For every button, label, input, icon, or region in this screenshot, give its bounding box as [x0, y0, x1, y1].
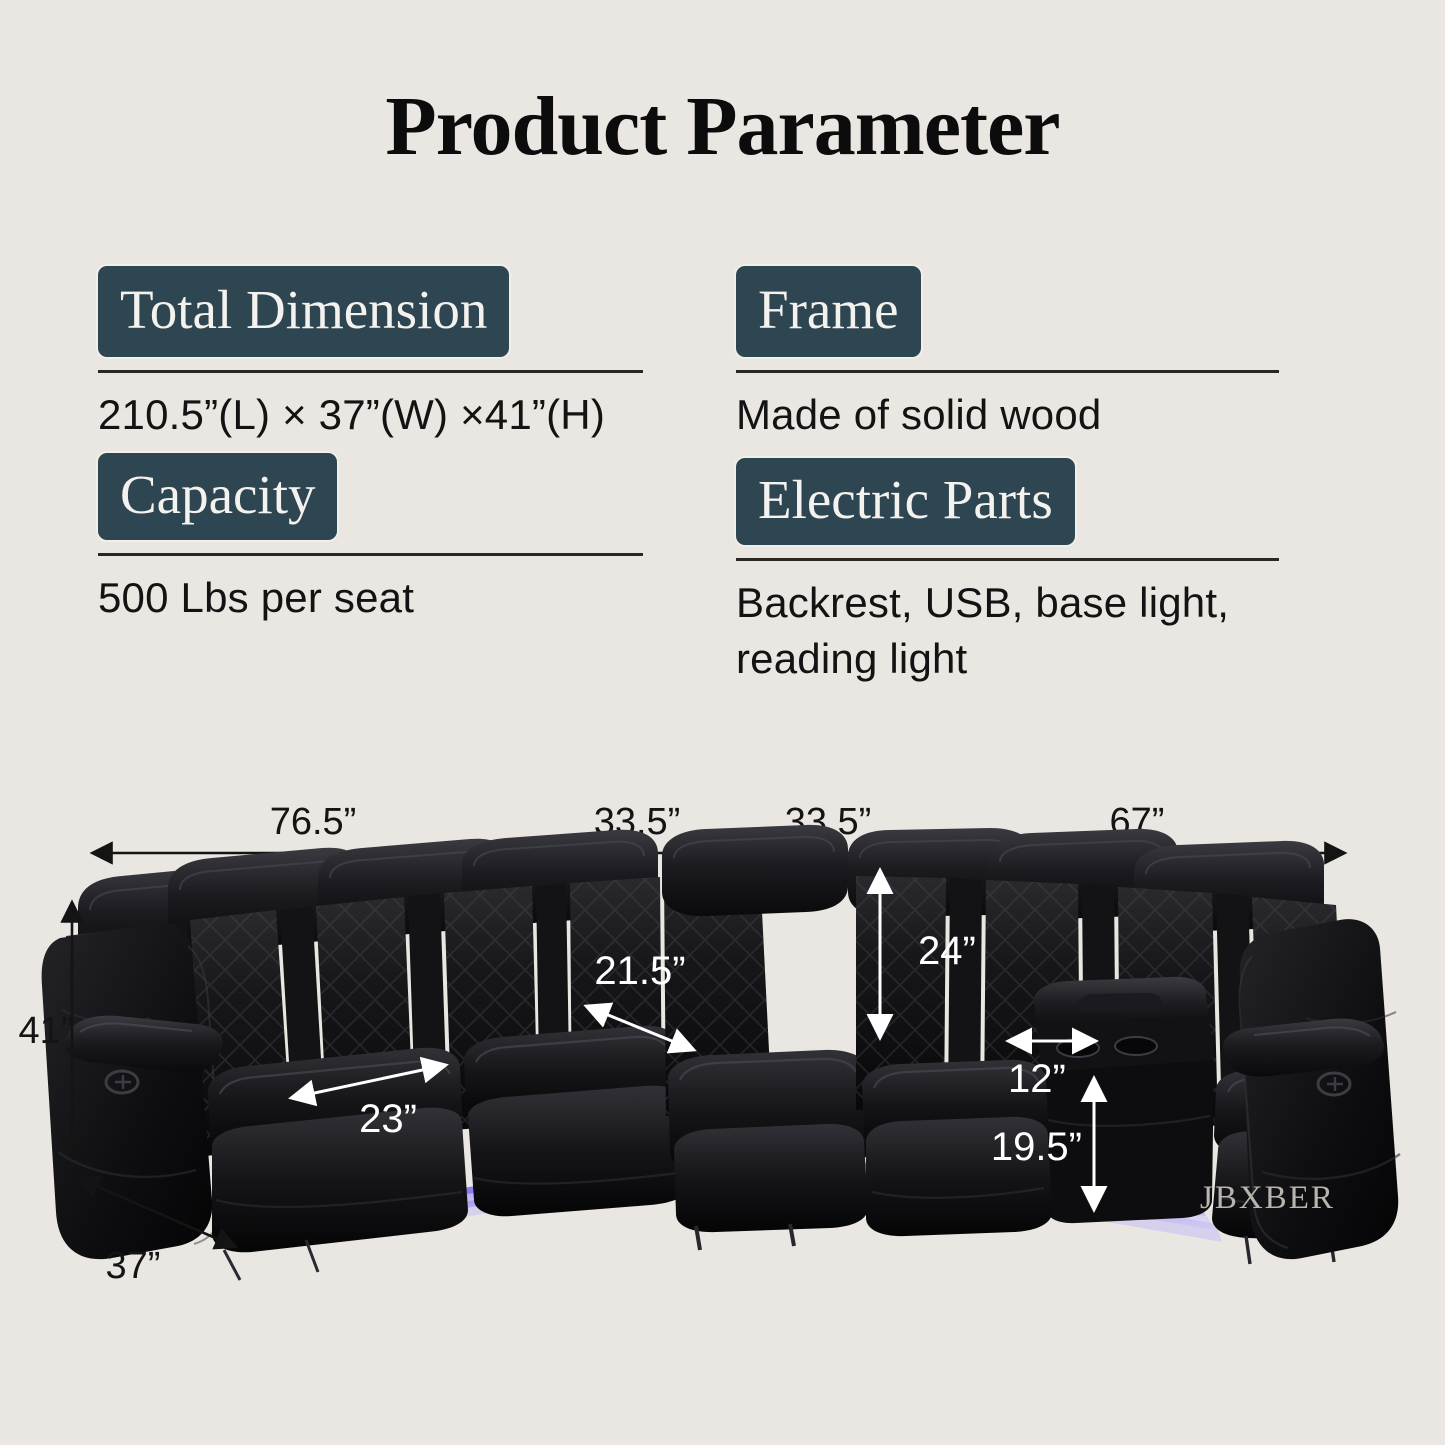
- spec-divider: [736, 558, 1279, 561]
- page-title: Product Parameter: [0, 85, 1445, 169]
- dim-label-height: 41”: [19, 1010, 74, 1052]
- product-dimension-diagram: 76.5” 33.5” 33.5” 67”: [0, 760, 1445, 1320]
- watermark: JBXBER: [1200, 1180, 1335, 1216]
- dim-label-back-height: 24”: [918, 929, 976, 973]
- dim-label-console-width: 12”: [1008, 1057, 1066, 1101]
- reading-light-nub: [1078, 993, 1162, 1012]
- spec-capacity: Capacity 500 Lbs per seat: [98, 453, 643, 626]
- spec-total-dimension-value: 210.5”(L) × 37”(W) ×41”(H): [98, 387, 643, 443]
- spec-divider: [736, 370, 1279, 373]
- spec-frame-label: Frame: [736, 266, 921, 357]
- spec-electric-parts: Electric Parts Backrest, USB, base light…: [736, 458, 1279, 688]
- spec-divider: [98, 553, 643, 556]
- spec-capacity-value: 500 Lbs per seat: [98, 570, 643, 626]
- left-wing-seats: [208, 1026, 690, 1280]
- infographic-page: Product Parameter Total Dimension 210.5”…: [0, 0, 1445, 1445]
- spec-total-dimension-label: Total Dimension: [98, 266, 509, 357]
- spec-electric-parts-label: Electric Parts: [736, 458, 1075, 545]
- spec-frame-value: Made of solid wood: [736, 387, 1279, 443]
- spec-electric-parts-value-line1: Backrest, USB, base light,: [736, 575, 1279, 631]
- spec-divider: [98, 370, 643, 373]
- spec-electric-parts-value: Backrest, USB, base light, reading light: [736, 575, 1279, 688]
- spec-capacity-label: Capacity: [98, 453, 337, 540]
- sofa-illustration: [42, 825, 1400, 1280]
- dim-label-backrest: 21.5”: [594, 949, 685, 993]
- dim-label-seat-width: 23”: [359, 1097, 417, 1141]
- spec-electric-parts-value-line2: reading light: [736, 631, 1279, 687]
- corner-wedge: [662, 825, 872, 1250]
- dim-label-depth: 37”: [106, 1245, 161, 1287]
- spec-frame: Frame Made of solid wood: [736, 266, 1279, 443]
- dim-label-segment-1: 76.5”: [270, 801, 357, 843]
- dim-label-seat-height: 19.5”: [991, 1125, 1082, 1169]
- spec-total-dimension: Total Dimension 210.5”(L) × 37”(W) ×41”(…: [98, 266, 643, 443]
